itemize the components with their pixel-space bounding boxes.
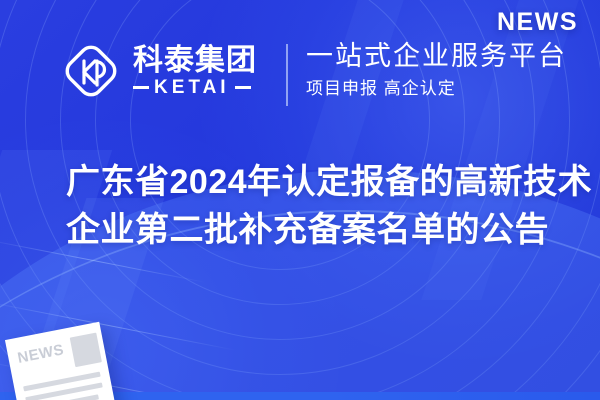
header-divider <box>286 44 288 106</box>
brand-tagline: 一站式企业服务平台 项目申报 高企认定 <box>306 40 567 100</box>
tagline-primary: 一站式企业服务平台 <box>306 40 567 74</box>
newspaper-text-lines <box>23 372 107 400</box>
newspaper-masthead: NEWS <box>16 333 98 377</box>
news-label: NEWS <box>497 8 578 37</box>
brand-name-en: KETAI <box>154 78 230 97</box>
newspaper-title: NEWS <box>16 339 66 366</box>
page-title-line-1: 广东省2024年认定报备的高新技术 <box>66 158 586 206</box>
brand-logo[interactable]: 科泰集团 KETAI <box>62 42 257 100</box>
brand-name-cn: 科泰集团 <box>133 46 257 76</box>
ketai-diamond-kd-logo-icon <box>62 42 120 100</box>
news-banner: 科泰集团 KETAI 一站式企业服务平台 项目申报 高企认定 NEWS 广东省2… <box>0 0 600 400</box>
brand-wordmark: 科泰集团 KETAI <box>133 46 257 97</box>
newspaper-illustration: NEWS <box>5 322 119 400</box>
banner-header: 科泰集团 KETAI 一站式企业服务平台 项目申报 高企认定 NEWS <box>0 0 600 130</box>
wordmark-dash-left <box>133 86 149 89</box>
wordmark-dash-right <box>235 86 251 89</box>
newspaper-image-placeholder-icon <box>70 333 102 368</box>
page-title-line-2: 企业第二批补充备案名单的公告 <box>66 206 586 254</box>
tagline-secondary: 项目申报 高企认定 <box>306 78 567 100</box>
brand-name-en-row: KETAI <box>133 78 257 97</box>
page-title: 广东省2024年认定报备的高新技术 企业第二批补充备案名单的公告 <box>66 158 586 255</box>
